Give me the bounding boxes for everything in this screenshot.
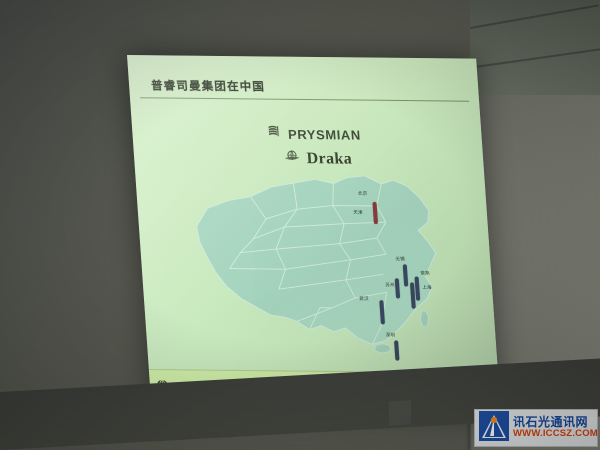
city-label-beijing: 北京 xyxy=(358,191,368,197)
projection-screen: 普睿司曼集团在中国 xyxy=(127,55,501,418)
china-map: 北京 天津 无锡 常熟 上海 苏州 武汉 深圳 xyxy=(174,156,467,358)
city-label-suzhou: 苏州 xyxy=(385,282,395,288)
watermark: 讯石光通讯网 WWW.ICCSZ.COM xyxy=(474,409,598,447)
prysmian-flag-icon xyxy=(267,125,284,143)
iccsz-triangle-logo xyxy=(479,411,509,446)
photo-scene: 普睿司曼集团在中国 xyxy=(0,0,600,450)
wall-panel xyxy=(388,399,412,426)
prysmian-logo: PRYSMIAN xyxy=(267,125,408,145)
city-label-shenzhen: 深圳 xyxy=(386,332,396,338)
city-label-tianjin: 天津 xyxy=(353,210,363,216)
watermark-url: WWW.ICCSZ.COM xyxy=(513,429,598,439)
slide-title: 普睿司曼集团在中国 xyxy=(150,77,265,94)
city-label-wuxi: 无锡 xyxy=(395,256,405,262)
city-label-wuhan: 武汉 xyxy=(359,296,369,302)
china-map-svg xyxy=(174,156,467,358)
city-label-shanghai: 上海 xyxy=(422,285,432,291)
prysmian-wordmark: PRYSMIAN xyxy=(287,126,361,142)
slide-canvas: 普睿司曼集团在中国 xyxy=(127,55,501,418)
watermark-text: 讯石光通讯网 WWW.ICCSZ.COM xyxy=(513,416,598,439)
city-label-changshu: 常熟 xyxy=(420,271,430,277)
title-divider xyxy=(140,97,469,101)
